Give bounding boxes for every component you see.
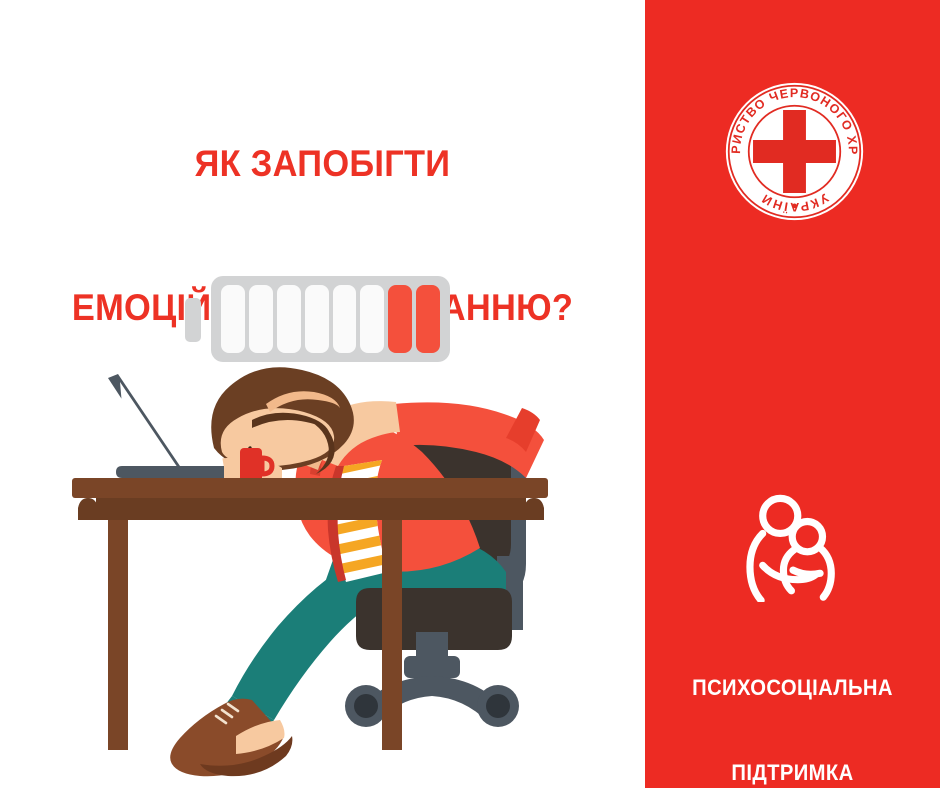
- office-chair-seat: [345, 588, 519, 727]
- burnout-illustration: [0, 0, 645, 788]
- pss-caption-line-2: ПІДТРИМКА: [657, 759, 928, 787]
- psychosocial-support-caption: ПСИХОСОЦІАЛЬНА ПІДТРИМКА: [657, 618, 928, 788]
- two-figures-embracing-icon: [745, 492, 841, 602]
- logo-ring-dot: [792, 204, 797, 209]
- psychosocial-support-block: ПСИХОСОЦІАЛЬНА ПІДТРИМКА: [645, 492, 940, 788]
- right-brand-panel: ТОВАРИСТВО ЧЕРВОНОГО ХРЕСТА УКРАЇНИ: [645, 0, 940, 788]
- pss-caption-line-1: ПСИХОСОЦІАЛЬНА: [657, 674, 928, 702]
- left-content-panel: ЯК ЗАПОБІГТИ ЕМОЦІЙНОМУ ВИГОРАННЮ?: [0, 0, 645, 788]
- poster-canvas: ЯК ЗАПОБІГТИ ЕМОЦІЙНОМУ ВИГОРАННЮ?: [0, 0, 940, 788]
- red-cross-society-of-ukraine-logo: ТОВАРИСТВО ЧЕРВОНОГО ХРЕСТА УКРАЇНИ: [723, 80, 866, 223]
